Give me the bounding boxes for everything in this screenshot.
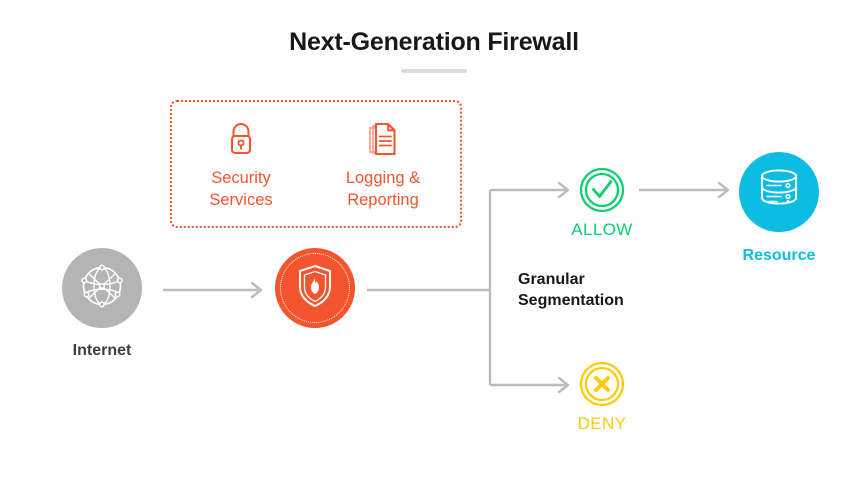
- service-label-logging: Logging & Reporting: [324, 167, 442, 211]
- document-report-icon: [324, 116, 442, 162]
- node-allow[interactable]: ALLOW: [542, 166, 662, 240]
- security-services-panel: Security Services Logging &: [170, 100, 462, 228]
- firewall-circle: [275, 248, 355, 328]
- node-label-resource: Resource: [719, 247, 839, 265]
- granular-caption-line2: Segmentation: [518, 292, 624, 309]
- node-label-deny: DENY: [542, 414, 662, 434]
- node-resource[interactable]: Resource: [719, 152, 839, 265]
- service-label-security-line2: Services: [209, 191, 272, 209]
- granular-caption-line1: Granular: [518, 271, 585, 288]
- node-internet[interactable]: Internet: [42, 248, 162, 360]
- x-circle-icon: [578, 360, 626, 408]
- service-label-logging-line2: Reporting: [347, 191, 419, 209]
- resource-circle: [739, 152, 819, 232]
- node-label-allow: ALLOW: [542, 220, 662, 240]
- lock-icon: [182, 116, 300, 162]
- granular-segmentation-caption: Granular Segmentation: [518, 269, 678, 311]
- globe-network-icon: [77, 261, 127, 316]
- service-label-logging-line1: Logging &: [346, 169, 420, 187]
- service-label-security: Security Services: [182, 167, 300, 211]
- database-icon: [755, 167, 803, 218]
- firewall-dotted-ring: [280, 253, 350, 323]
- service-item-security[interactable]: Security Services: [182, 116, 300, 211]
- check-circle-icon: [578, 166, 626, 214]
- internet-circle: [62, 248, 142, 328]
- node-label-internet: Internet: [42, 342, 162, 360]
- service-label-security-line1: Security: [211, 169, 271, 187]
- node-firewall[interactable]: [255, 248, 375, 328]
- node-deny[interactable]: DENY: [542, 360, 662, 434]
- diagram-canvas: Next-Generation Firewall: [0, 0, 868, 488]
- service-item-logging[interactable]: Logging & Reporting: [324, 116, 442, 211]
